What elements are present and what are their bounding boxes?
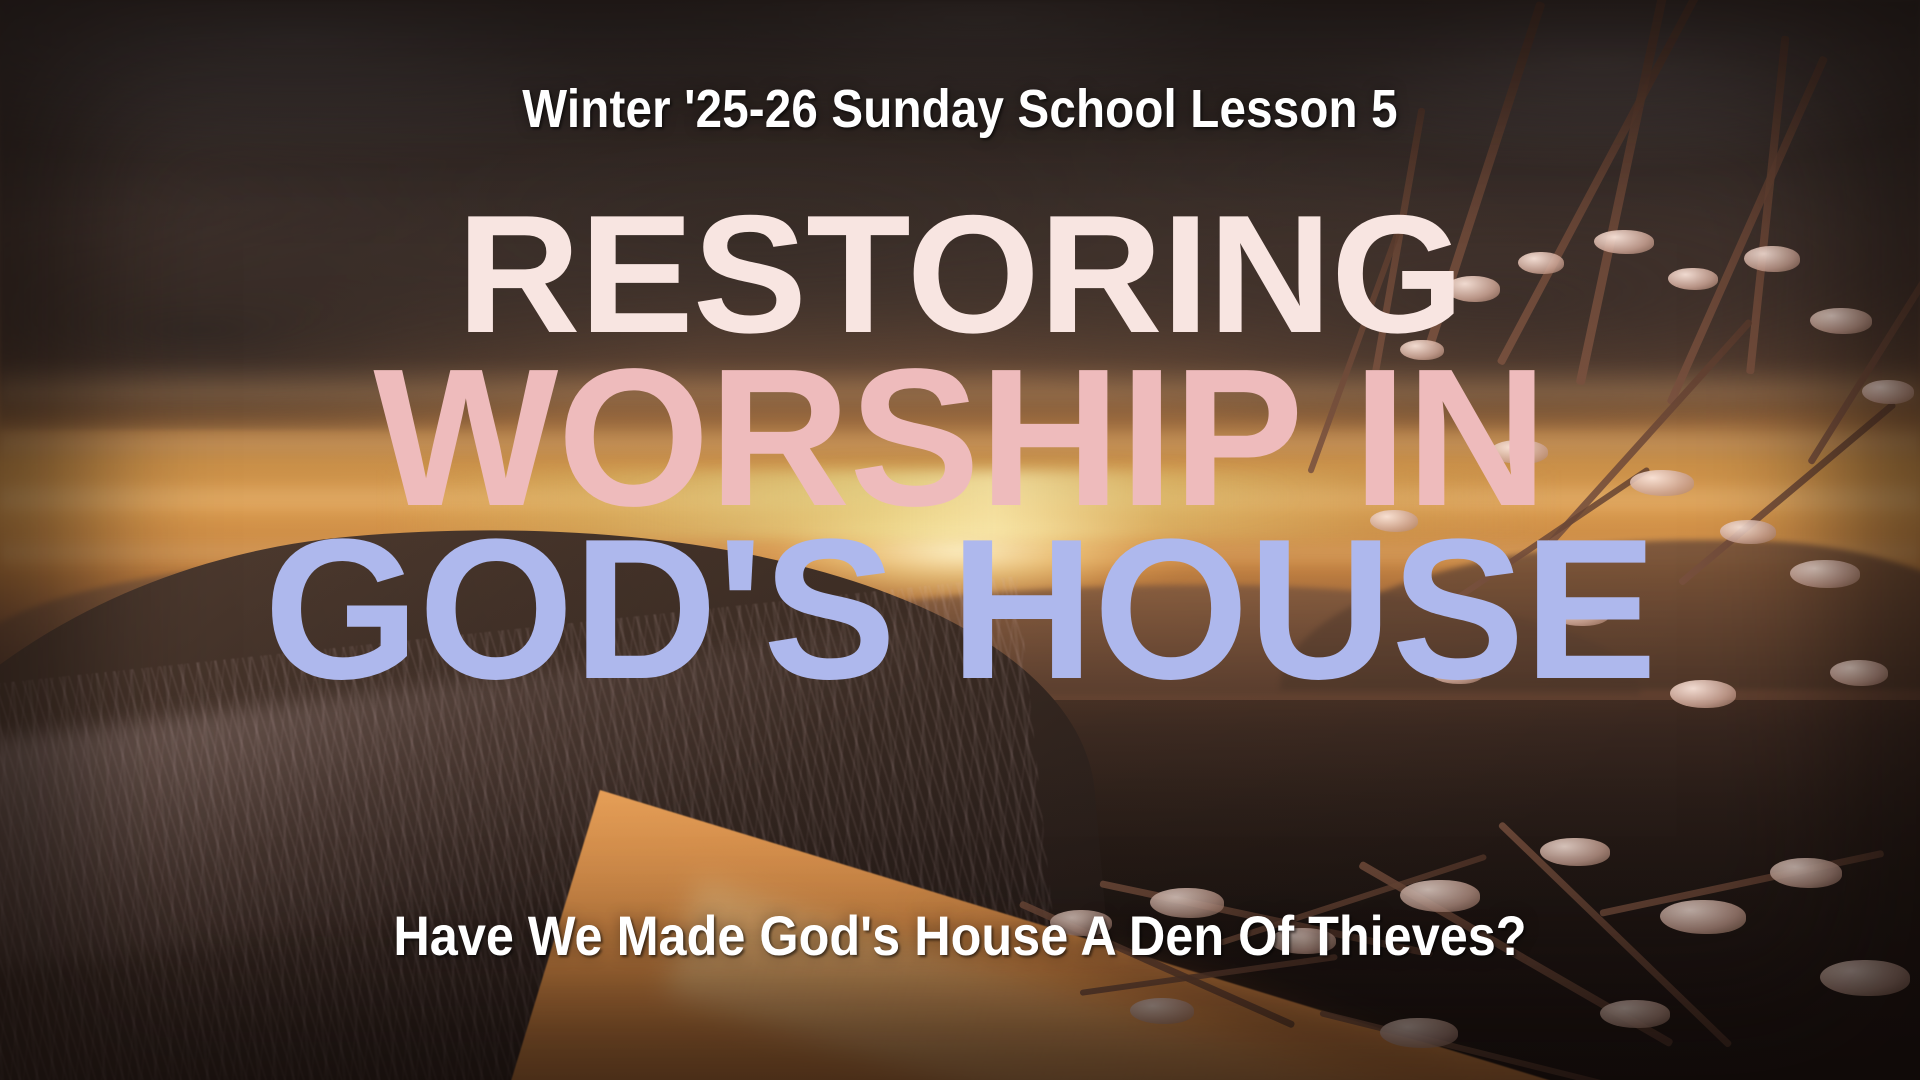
title-line-gods-house: GOD'S HOUSE: [0, 516, 1920, 704]
lesson-tagline: Have We Made God's House A Den Of Thieve…: [96, 903, 1824, 968]
lesson-title-slide: Winter '25-26 Sunday School Lesson 5 RES…: [0, 0, 1920, 1080]
text-overlay: Winter '25-26 Sunday School Lesson 5 RES…: [0, 0, 1920, 1080]
lesson-kicker: Winter '25-26 Sunday School Lesson 5: [115, 78, 1805, 140]
main-title: RESTORING WORSHIP IN GOD'S HOUSE: [0, 196, 1920, 704]
